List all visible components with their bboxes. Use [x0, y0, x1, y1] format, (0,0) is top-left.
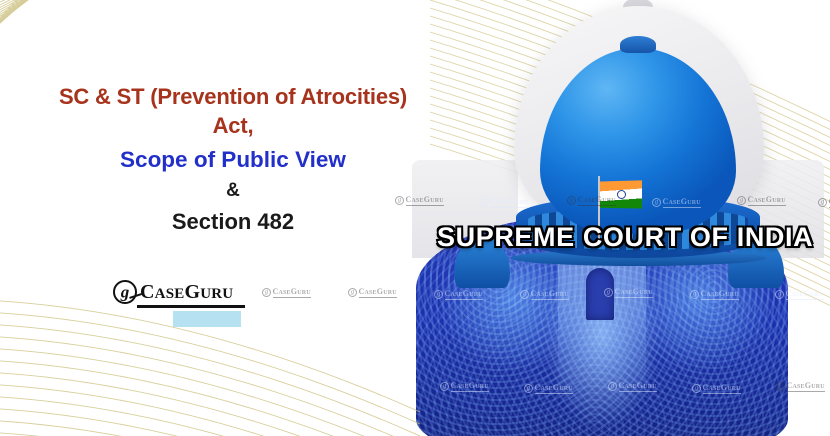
court-archway	[586, 268, 614, 320]
caseguru-logo[interactable]: CASEGURU	[113, 280, 233, 304]
watermark-label: CASEGURU	[359, 288, 397, 298]
dome-finial	[620, 36, 656, 53]
supreme-court-illustration	[398, 0, 830, 436]
brand-underline	[137, 305, 245, 308]
caseguru-wordmark: CASEGURU	[140, 282, 233, 302]
watermark-caseguru: CASEGURU	[348, 288, 397, 298]
poster-canvas: SC & ST (Prevention of Atrocities) Act, …	[0, 0, 830, 436]
caseguru-g-monogram-icon	[348, 288, 357, 297]
ashoka-chakra-icon	[617, 190, 626, 199]
headline-line-5: Section 482	[18, 207, 448, 236]
headline-line-2: Act,	[18, 111, 448, 140]
headline-ampersand: &	[18, 178, 448, 203]
caseguru-g-monogram-icon	[262, 288, 271, 297]
supreme-court-banner-text: SUPREME COURT OF INDIA	[437, 222, 809, 253]
headline-line-1: SC & ST (Prevention of Atrocities)	[18, 82, 448, 111]
headline-line-3: Scope of Public View	[18, 145, 448, 175]
brand-accent-swatch	[173, 311, 241, 327]
caseguru-g-monogram-icon	[113, 280, 137, 304]
headline-block: SC & ST (Prevention of Atrocities) Act, …	[18, 82, 448, 236]
watermark-label: CASEGURU	[273, 288, 311, 298]
watermark-caseguru: CASEGURU	[262, 288, 311, 298]
